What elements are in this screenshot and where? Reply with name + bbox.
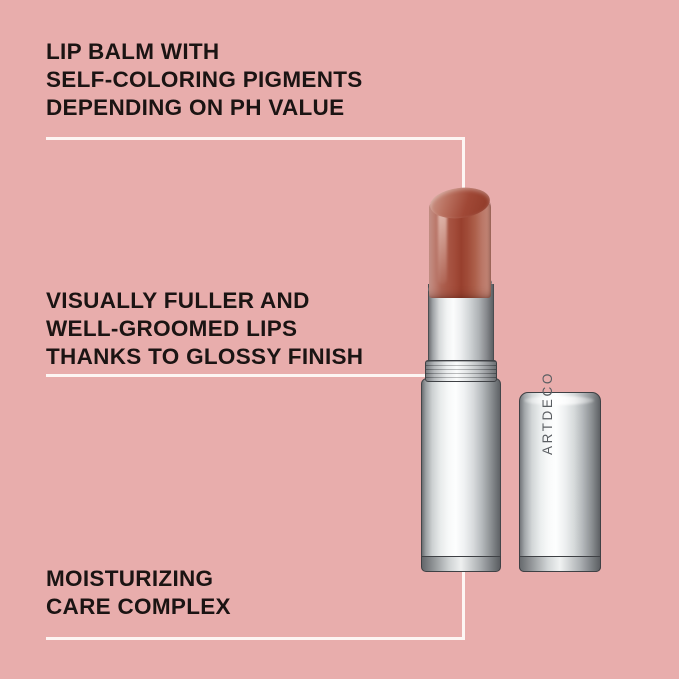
lipstick-cap-bottom-edge [519,556,601,572]
lipstick-bullet-highlight [438,212,447,284]
lipstick-tube-bottom-edge [421,556,501,572]
infographic-canvas: LIP BALM WITH SELF-COLORING PIGMENTS DEP… [0,0,679,679]
lipstick-collar-ring [425,360,497,382]
lipstick-tube-base [421,378,501,569]
lipstick-bullet [429,188,491,298]
brand-logo-artdeco: ARTDECO [540,345,564,455]
lipstick-product-image: ARTDECO [0,0,679,679]
